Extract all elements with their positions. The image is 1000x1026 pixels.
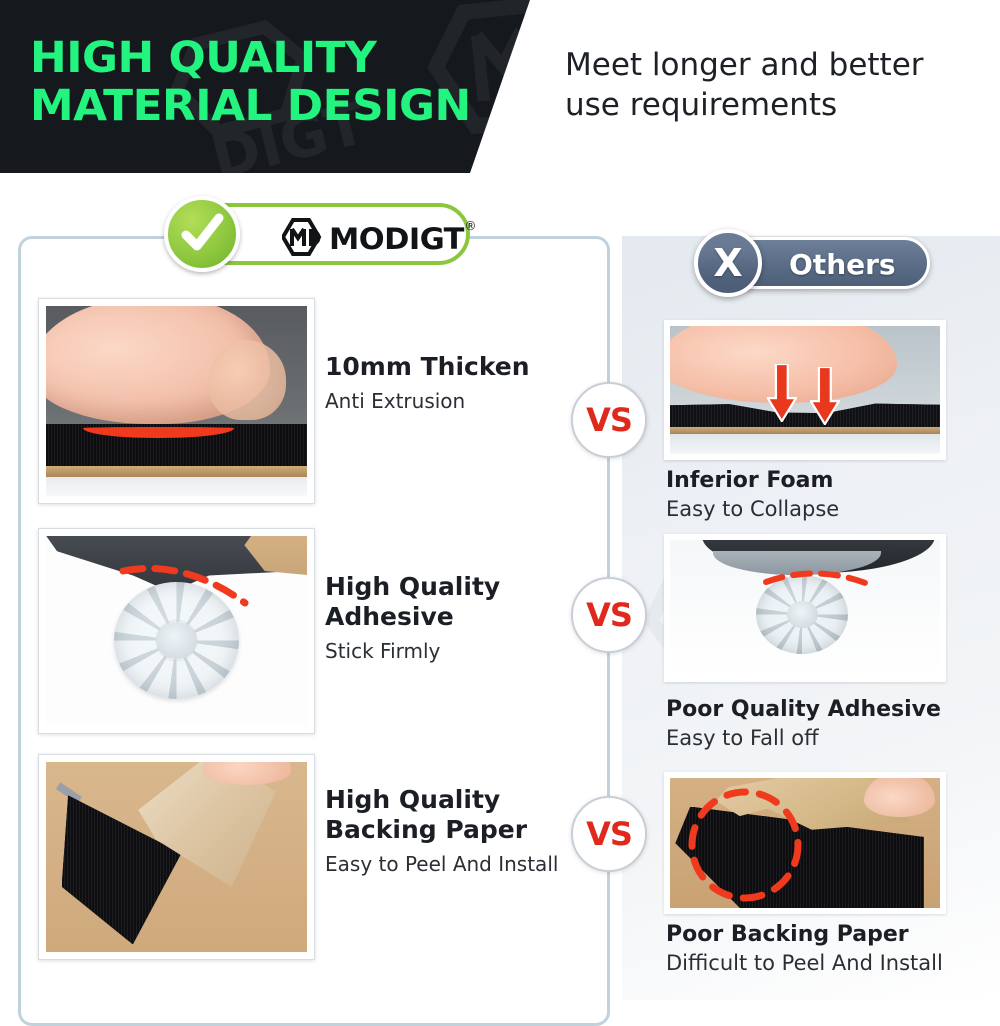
bad-title-2: Poor Quality Adhesive [666, 697, 996, 723]
bad-photo-1 [664, 320, 946, 460]
good-text-2: High Quality Adhesive Stick Firmly [325, 572, 590, 664]
vs-label-1: VS [586, 401, 632, 439]
others-label: Others [789, 248, 896, 281]
good-subtitle-1: Anti Extrusion [325, 388, 590, 414]
vs-badge-2: VS [571, 577, 647, 653]
good-title-2: High Quality Adhesive [325, 572, 590, 632]
bad-text-3: Poor Backing Paper Difficult to Peel And… [666, 922, 996, 976]
good-title-1: 10mm Thicken [325, 352, 590, 382]
bad-subtitle-3: Difficult to Peel And Install [666, 950, 996, 976]
vs-label-2: VS [586, 596, 632, 634]
good-text-3: High Quality Backing Paper Easy to Peel … [325, 785, 600, 877]
red-dashed-circle-icon [686, 786, 804, 904]
vs-badge-3: VS [571, 796, 647, 872]
bad-photo-2 [664, 534, 946, 682]
red-dashed-arc-icon [119, 563, 249, 623]
good-text-1: 10mm Thicken Anti Extrusion [325, 352, 590, 414]
down-arrow-icon [810, 367, 840, 425]
bad-photo-3 [664, 772, 946, 914]
modigt-logo-lockup: MODIGT ® [282, 218, 476, 260]
good-photo-1 [38, 298, 315, 504]
x-mark-icon: X [694, 229, 762, 297]
page-title: HIGH QUALITY MATERIAL DESIGN [30, 34, 509, 130]
good-title-3: High Quality Backing Paper [325, 785, 600, 845]
bad-subtitle-2: Easy to Fall off [666, 725, 996, 751]
bad-text-1: Inferior Foam Easy to Collapse [666, 468, 996, 522]
header-subtitle: Meet longer and better use requirements [565, 45, 985, 125]
md-hexagon-icon [282, 218, 322, 260]
vs-label-3: VS [586, 815, 632, 853]
header-banner: DIGT HIGH QUALITY MATERIAL DESIGN Meet l… [0, 0, 1000, 173]
good-subtitle-2: Stick Firmly [325, 638, 590, 664]
bad-text-2: Poor Quality Adhesive Easy to Fall off [666, 697, 996, 751]
good-subtitle-3: Easy to Peel And Install [325, 851, 600, 877]
bad-subtitle-1: Easy to Collapse [666, 496, 996, 522]
brand-name: MODIGT [329, 222, 464, 256]
x-glyph: X [713, 244, 742, 282]
registered-mark: ® [464, 219, 476, 233]
good-photo-3 [38, 754, 315, 960]
bad-title-1: Inferior Foam [666, 468, 996, 494]
check-icon [164, 196, 240, 272]
vs-badge-1: VS [571, 382, 647, 458]
red-dashed-arc-icon [762, 562, 872, 602]
good-photo-2 [38, 528, 315, 734]
down-arrow-icon [767, 364, 797, 422]
bad-title-3: Poor Backing Paper [666, 922, 996, 948]
